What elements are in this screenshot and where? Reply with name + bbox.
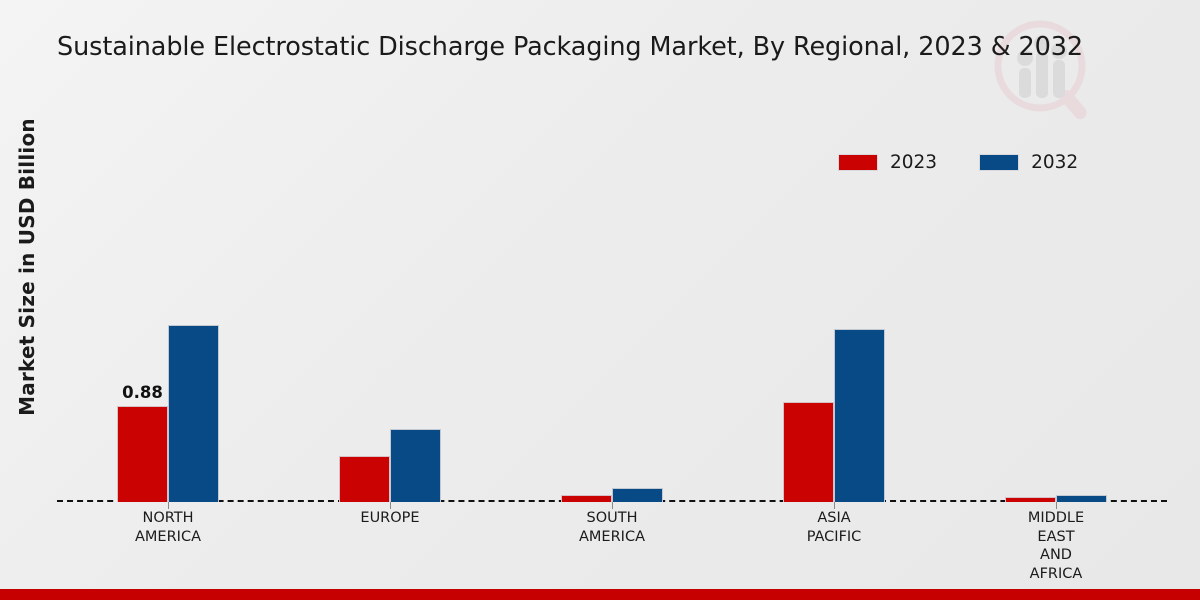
bar-2023-south-america[interactable] <box>561 495 612 502</box>
bar-2032-north-america[interactable] <box>168 325 219 502</box>
bar-group-europe: EUROPE <box>279 130 501 502</box>
bar-2032-middle-east-and-africa[interactable] <box>1056 495 1107 502</box>
bar-2023-middle-east-and-africa[interactable] <box>1005 497 1056 502</box>
plot-area: 0.88 NORTH AMERICA EUROPE SOUTH AMERICA <box>57 130 1167 502</box>
x-tick-europe <box>390 502 391 509</box>
bar-2023-europe[interactable] <box>339 456 390 502</box>
x-label-asia-pacific: ASIA PACIFIC <box>749 509 919 546</box>
bar-group-north-america: 0.88 NORTH AMERICA <box>57 130 279 502</box>
x-tick-middle-east-and-africa <box>1056 502 1057 509</box>
chart-title: Sustainable Electrostatic Discharge Pack… <box>57 30 1167 65</box>
bar-2032-south-america[interactable] <box>612 488 663 502</box>
x-tick-asia-pacific <box>834 502 835 509</box>
x-tick-north-america <box>168 502 169 509</box>
x-tick-south-america <box>612 502 613 509</box>
y-axis-title: Market Size in USD Billion <box>15 107 39 427</box>
bar-group-asia-pacific: ASIA PACIFIC <box>723 130 945 502</box>
bar-2032-asia-pacific[interactable] <box>834 329 885 502</box>
x-label-north-america: NORTH AMERICA <box>83 509 253 546</box>
bar-2023-asia-pacific[interactable] <box>783 402 834 502</box>
bar-value-label-2023-north-america: 0.88 <box>122 383 163 402</box>
bar-2032-europe[interactable] <box>390 429 441 502</box>
x-label-south-america: SOUTH AMERICA <box>527 509 697 546</box>
bar-group-middle-east-and-africa: MIDDLE EAST AND AFRICA <box>945 130 1167 502</box>
x-label-middle-east-and-africa: MIDDLE EAST AND AFRICA <box>971 509 1141 583</box>
bar-group-south-america: SOUTH AMERICA <box>501 130 723 502</box>
bar-2023-north-america[interactable]: 0.88 <box>117 406 168 502</box>
x-label-europe: EUROPE <box>305 509 475 528</box>
footer-accent-bar <box>0 589 1200 600</box>
chart-canvas: Sustainable Electrostatic Discharge Pack… <box>0 0 1200 600</box>
